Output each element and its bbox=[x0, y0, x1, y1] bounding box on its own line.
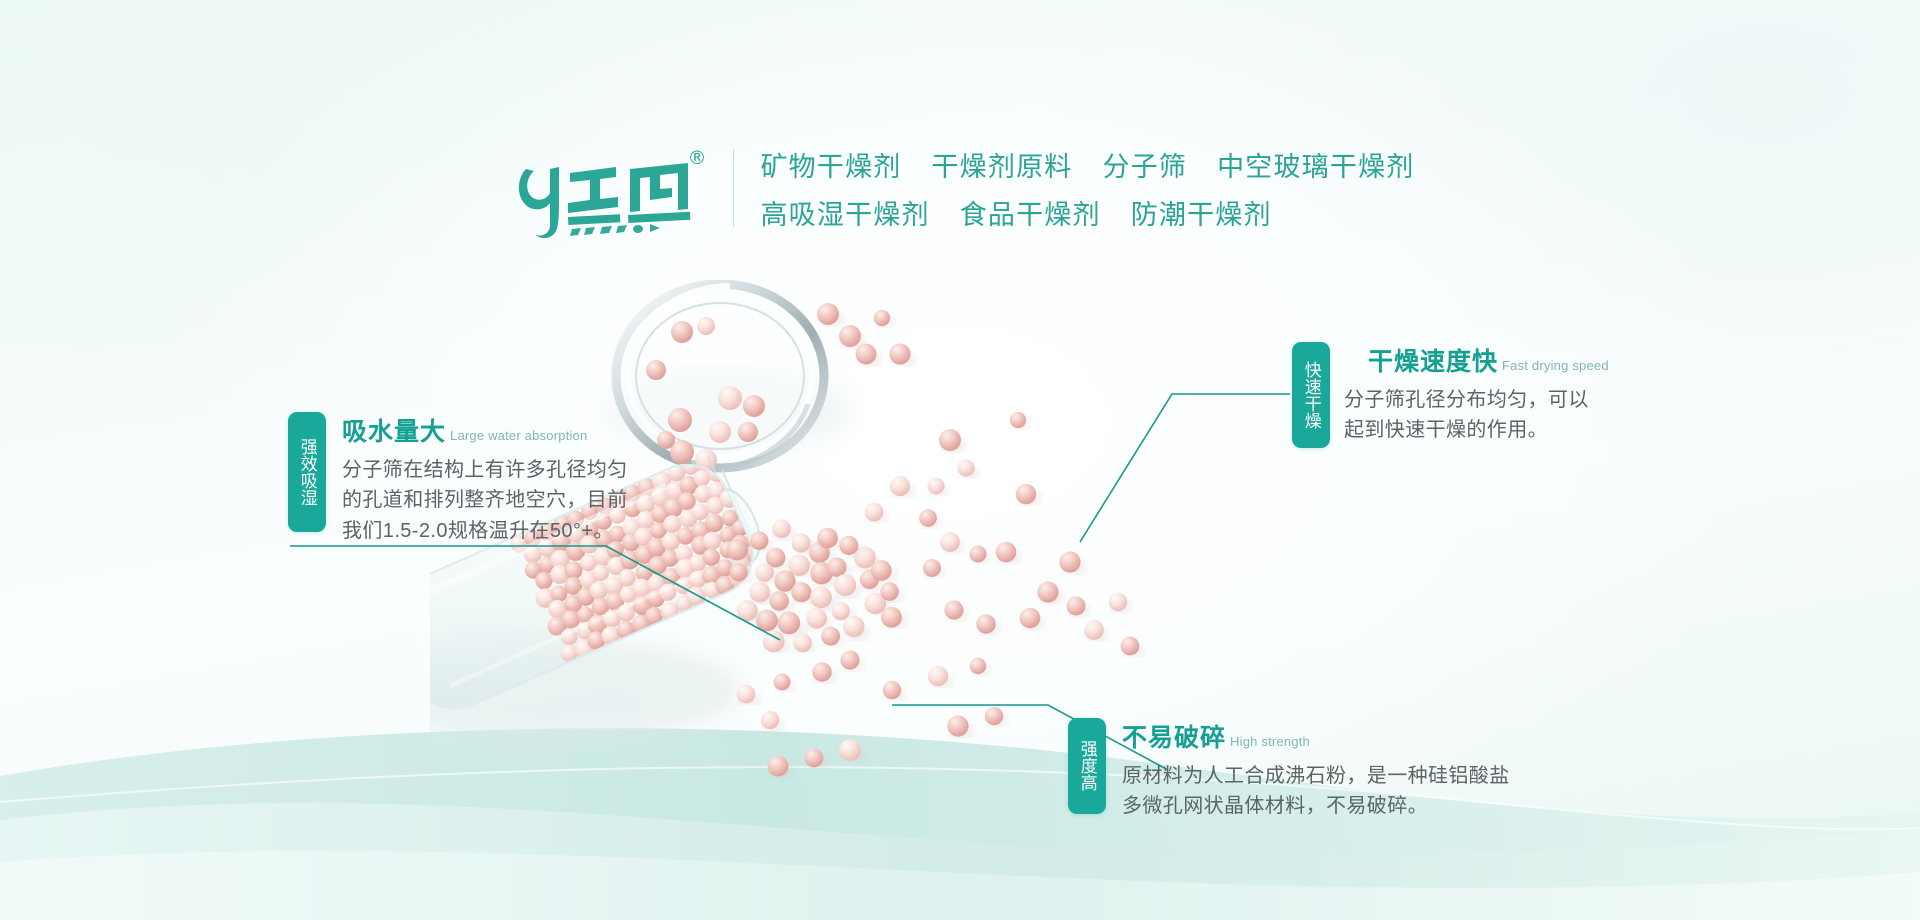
keyword-row-1: 矿物干燥剂 干燥剂原料 分子筛 中空玻璃干燥剂 bbox=[760, 145, 1414, 184]
callout-heading: 干燥速度快 Fast drying speed bbox=[1344, 342, 1609, 378]
callout-description: 分子筛孔径分布均匀，可以 起到快速干燥的作用。 bbox=[1344, 385, 1609, 446]
header-keyword-list: 矿物干燥剂 干燥剂原料 分子筛 中空玻璃干燥剂 高吸湿干燥剂 食品干燥剂 防潮干… bbox=[760, 143, 1414, 232]
callout-subtitle-en: Large water absorption bbox=[450, 428, 587, 443]
badge-strong-absorption: 强效吸湿 bbox=[288, 412, 326, 532]
keyword-row-2: 高吸湿干燥剂 食品干燥剂 防潮干燥剂 bbox=[760, 193, 1414, 232]
callout-title: 干燥速度快 bbox=[1368, 342, 1498, 378]
spilled-beads-cluster bbox=[726, 519, 907, 652]
description-line: 多微孔网状晶体材料，不易破碎。 bbox=[1122, 791, 1510, 821]
callout-title: 不易破碎 bbox=[1122, 718, 1226, 754]
badge-fast-drying: 快速干燥 bbox=[1292, 342, 1330, 448]
keyword-insulating-glass[interactable]: 中空玻璃干燥剂 bbox=[1217, 145, 1414, 184]
description-line: 分子筛在结构上有许多孔径均匀 bbox=[342, 455, 628, 485]
description-line: 起到快速干燥的作用。 bbox=[1344, 415, 1609, 445]
logo-glyphs-icon bbox=[510, 147, 710, 243]
callout-heading: 吸水量大 Large water absorption bbox=[342, 412, 628, 448]
keyword-moisture-proof[interactable]: 防潮干燥剂 bbox=[1131, 193, 1272, 232]
callout-high-strength[interactable]: 强度高 不易破碎 High strength 原材料为人工合成沸石粉，是一种硅铝… bbox=[1068, 718, 1510, 822]
callout-body: 吸水量大 Large water absorption 分子筛在结构上有许多孔径… bbox=[326, 412, 628, 546]
callout-subtitle-en: High strength bbox=[1230, 734, 1310, 749]
callout-large-water-absorption[interactable]: 强效吸湿 吸水量大 Large water absorption 分子筛在结构上… bbox=[288, 412, 628, 546]
keyword-molecular-sieve[interactable]: 分子筛 bbox=[1102, 145, 1187, 184]
callout-title: 吸水量大 bbox=[342, 412, 446, 448]
callout-heading: 不易破碎 High strength bbox=[1122, 718, 1510, 754]
logo-mark-icon: ® bbox=[510, 147, 710, 243]
keyword-mineral-desiccant[interactable]: 矿物干燥剂 bbox=[760, 145, 901, 184]
callout-subtitle-en: Fast drying speed bbox=[1502, 358, 1609, 373]
description-line: 原材料为人工合成沸石粉，是一种硅铝酸盐 bbox=[1122, 761, 1510, 791]
keyword-desiccant-raw[interactable]: 干燥剂原料 bbox=[931, 145, 1072, 184]
header-divider bbox=[733, 149, 734, 227]
registered-trademark-icon: ® bbox=[687, 149, 706, 168]
callout-fast-drying-speed[interactable]: 快速干燥 干燥速度快 Fast drying speed 分子筛孔径分布均匀，可… bbox=[1292, 342, 1609, 448]
callout-body: 不易破碎 High strength 原材料为人工合成沸石粉，是一种硅铝酸盐 多… bbox=[1106, 718, 1510, 822]
callout-description: 原材料为人工合成沸石粉，是一种硅铝酸盐 多微孔网状晶体材料，不易破碎。 bbox=[1122, 761, 1510, 822]
callout-description: 分子筛在结构上有许多孔径均匀 的孔道和排列整齐地空穴，目前 我们1.5-2.0规… bbox=[342, 455, 628, 546]
keyword-food-desiccant[interactable]: 食品干燥剂 bbox=[960, 193, 1101, 232]
description-line: 我们1.5-2.0规格温升在50°+。 bbox=[342, 516, 628, 546]
site-header: ® 矿物干燥剂 干燥剂原料 分子筛 中空玻璃干燥剂 高吸湿干燥剂 食品干燥剂 防… bbox=[0, 130, 1920, 245]
banner-stage: ® 矿物干燥剂 干燥剂原料 分子筛 中空玻璃干燥剂 高吸湿干燥剂 食品干燥剂 防… bbox=[0, 0, 1920, 920]
glass-lid-ring bbox=[616, 284, 824, 471]
badge-high-strength: 强度高 bbox=[1068, 718, 1106, 814]
description-line: 的孔道和排列整齐地空穴，目前 bbox=[342, 485, 628, 515]
brand-logo[interactable]: ® bbox=[505, 133, 715, 243]
callout-body: 干燥速度快 Fast drying speed 分子筛孔径分布均匀，可以 起到快… bbox=[1330, 342, 1609, 446]
description-line: 分子筛孔径分布均匀，可以 bbox=[1344, 385, 1609, 415]
keyword-high-absorption[interactable]: 高吸湿干燥剂 bbox=[760, 193, 929, 232]
